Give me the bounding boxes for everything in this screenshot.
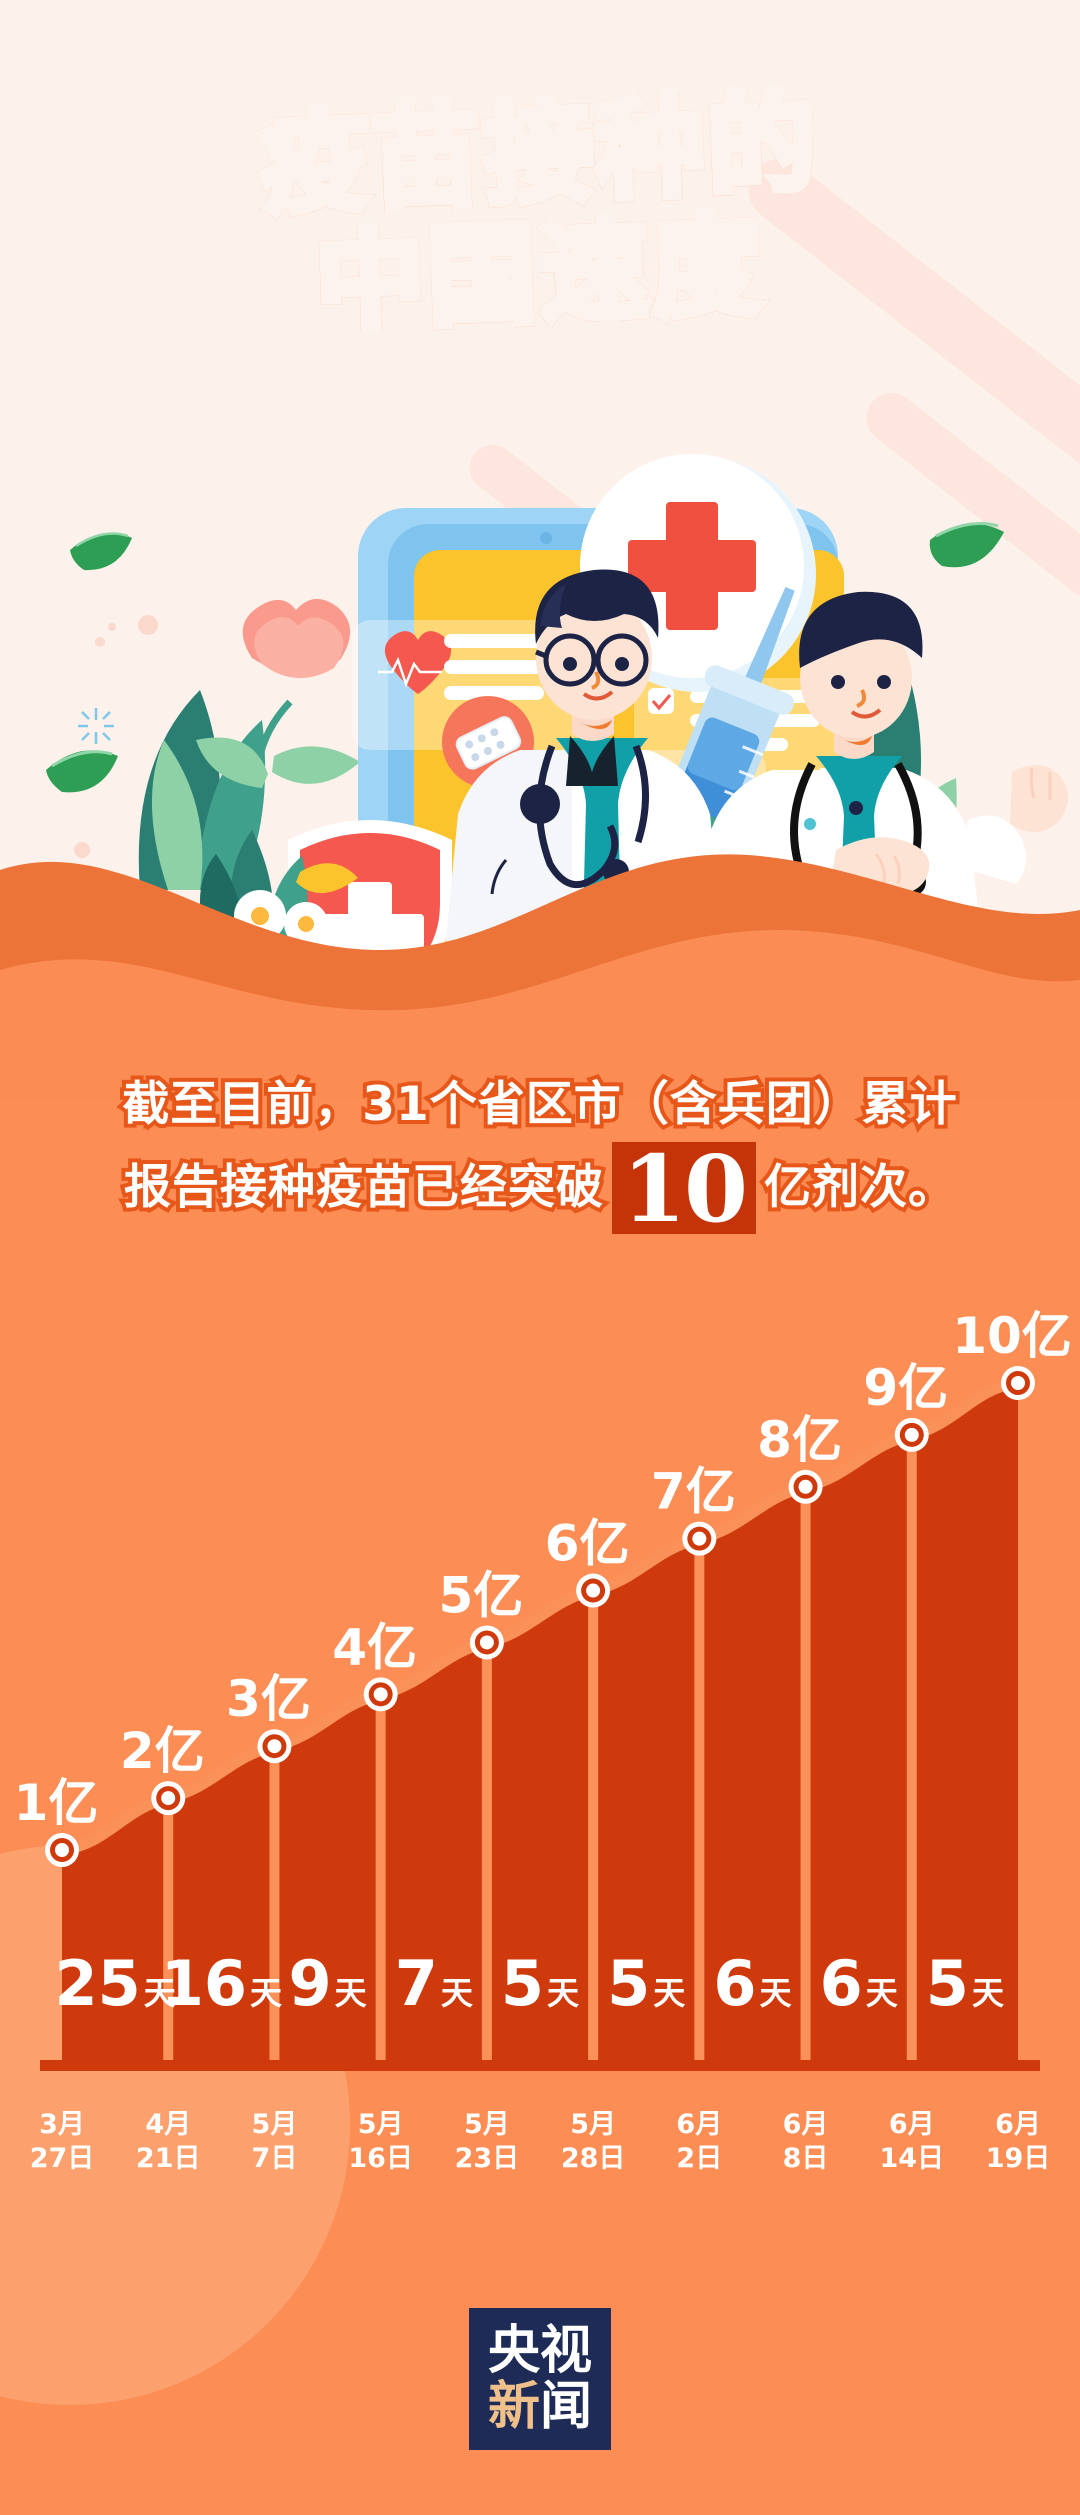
x-axis-tick-label: 6月2日	[676, 2108, 722, 2176]
interval-days-number: 25	[54, 1953, 140, 2015]
data-point-label: 4亿	[332, 1618, 417, 1676]
data-point-label: 1亿	[14, 1774, 99, 1832]
interval-days-unit: 天	[653, 1975, 685, 2015]
tick-day: 7日	[252, 2142, 298, 2176]
tick-month: 5月	[561, 2108, 626, 2142]
logo-char-shi: 视	[540, 2323, 592, 2379]
interval-days-number: 6	[820, 1953, 863, 2015]
data-point-label: 10亿	[952, 1307, 1072, 1365]
data-point-marker-inner	[374, 1687, 388, 1701]
interval-days-cell: 6天	[699, 1925, 805, 2015]
tick-day: 19日	[986, 2142, 1051, 2176]
x-axis-tick-label: 5月28日	[561, 2108, 626, 2176]
tick-month: 5月	[348, 2108, 413, 2142]
data-point-marker-inner	[905, 1428, 919, 1442]
logo-char-wen: 闻	[540, 2379, 592, 2435]
x-axis-tick-label: 6月14日	[879, 2108, 944, 2176]
x-axis-tick-label: 5月16日	[348, 2108, 413, 2176]
interval-days-cell: 6天	[806, 1925, 912, 2015]
data-point-marker-inner	[480, 1635, 494, 1649]
tick-day: 16日	[348, 2142, 413, 2176]
tick-day: 28日	[561, 2142, 626, 2176]
interval-days-cell: 9天	[274, 1925, 380, 2015]
interval-days-number: 5	[926, 1953, 969, 2015]
data-point-label: 9亿	[863, 1359, 948, 1417]
interval-days-unit: 天	[441, 1975, 473, 2015]
x-axis-tick-label: 4月21日	[136, 2108, 201, 2176]
x-axis-tick-label: 6月19日	[986, 2108, 1051, 2176]
data-point-marker-inner	[161, 1791, 175, 1805]
x-axis-date-labels: 3月27日4月21日5月7日5月16日5月23日5月28日6月2日6月8日6月1…	[0, 2108, 1080, 2218]
tick-day: 23日	[455, 2142, 520, 2176]
interval-days-cell: 5天	[912, 1925, 1018, 2015]
data-point-label: 8亿	[757, 1411, 842, 1469]
poster-title: 疫苗接种的 中国速度	[0, 98, 1080, 333]
x-axis-tick-label: 6月8日	[783, 2108, 829, 2176]
interval-days-unit: 天	[866, 1975, 898, 2015]
subtitle-block: 截至目前，31个省区市（含兵团）累计 报告接种疫苗已经突破10亿剂次。	[0, 1068, 1080, 1234]
data-point-label: 5亿	[438, 1566, 523, 1624]
interval-days-number: 5	[607, 1953, 650, 2015]
logo-char-xin: 新	[488, 2379, 540, 2435]
logo-char-yang: 央	[488, 2323, 540, 2379]
interval-days-number: 5	[501, 1953, 544, 2015]
interval-days-unit: 天	[972, 1975, 1004, 2015]
interval-days-cell: 7天	[381, 1925, 487, 2015]
interval-days-number: 7	[395, 1953, 438, 2015]
tick-day: 14日	[879, 2142, 944, 2176]
chart-svg: 1亿2亿3亿4亿5亿6亿7亿8亿9亿10亿	[0, 1255, 1080, 2155]
interval-days-row: 25天16天9天7天5天5天6天6天5天	[0, 1925, 1080, 2015]
interval-days-cell: 16天	[168, 1925, 274, 2015]
x-axis-tick-label: 3月27日	[30, 2108, 95, 2176]
interval-days-unit: 天	[335, 1975, 367, 2015]
interval-days-unit: 天	[760, 1975, 792, 2015]
chart-x-axis-baseline	[40, 2060, 1040, 2071]
vaccination-growth-chart: 1亿2亿3亿4亿5亿6亿7亿8亿9亿10亿	[0, 1255, 1080, 2155]
tick-month: 6月	[879, 2108, 944, 2142]
wave-divider-light	[0, 840, 1080, 1100]
interval-days-number: 6	[713, 1953, 756, 2015]
tick-month: 6月	[676, 2108, 722, 2142]
data-point-marker-inner	[586, 1584, 600, 1598]
data-point-label: 2亿	[120, 1722, 205, 1780]
data-point-marker-inner	[799, 1480, 813, 1494]
interval-days-number: 9	[288, 1953, 331, 2015]
data-point-marker-inner	[267, 1739, 281, 1753]
data-point-marker-inner	[55, 1843, 69, 1857]
cctv-news-logo: 央 视 新 闻	[469, 2308, 611, 2450]
tick-month: 5月	[252, 2108, 298, 2142]
tick-day: 27日	[30, 2142, 95, 2176]
tick-day: 8日	[783, 2142, 829, 2176]
data-point-marker-inner	[692, 1532, 706, 1546]
subtitle-line-2-after: 亿剂次。	[764, 1151, 956, 1225]
tick-month: 5月	[455, 2108, 520, 2142]
data-point-label: 3亿	[226, 1670, 311, 1728]
infographic-poster: 疫苗接种的 中国速度 截至目前，31个省区市（含兵团）累计 报告接种疫苗已经突破…	[0, 0, 1080, 2515]
tick-day: 2日	[676, 2142, 722, 2176]
tick-month: 6月	[986, 2108, 1051, 2142]
subtitle-line-1: 截至目前，31个省区市（含兵团）累计	[122, 1068, 957, 1142]
highlight-number-10: 10	[612, 1142, 756, 1234]
subtitle-line-2-before: 报告接种疫苗已经突破	[124, 1151, 604, 1225]
interval-days-cell: 25天	[62, 1925, 168, 2015]
interval-days-cell: 5天	[487, 1925, 593, 2015]
interval-days-number: 16	[161, 1953, 247, 2015]
tick-month: 3月	[30, 2108, 95, 2142]
tick-month: 4月	[136, 2108, 201, 2142]
interval-days-cell: 5天	[593, 1925, 699, 2015]
tick-month: 6月	[783, 2108, 829, 2142]
chart-data-point: 10亿	[952, 1307, 1072, 1400]
x-axis-tick-label: 5月23日	[455, 2108, 520, 2176]
data-point-label: 7亿	[651, 1463, 736, 1521]
interval-days-unit: 天	[547, 1975, 579, 2015]
tick-day: 21日	[136, 2142, 201, 2176]
data-point-label: 6亿	[545, 1515, 630, 1573]
x-axis-tick-label: 5月7日	[252, 2108, 298, 2176]
data-point-marker-inner	[1011, 1376, 1025, 1390]
